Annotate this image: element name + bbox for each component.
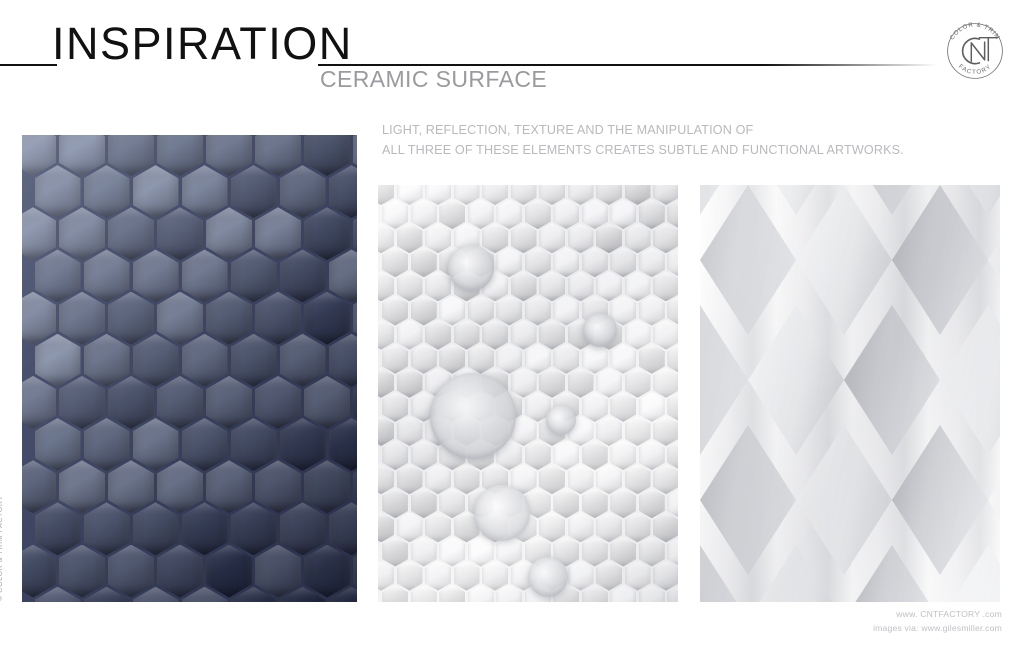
inspiration-slide: INSPIRATION CERAMIC SURFACE COLOR & TRIM… <box>0 0 1024 647</box>
image-panel-white-hexagon-mosaic <box>378 185 678 602</box>
footer-site-url: www. CNTFACTORY .com <box>873 607 1002 621</box>
navy-hexagon-texture <box>22 135 357 602</box>
image-panel-white-pleated-diamond <box>700 185 1000 602</box>
page-subtitle: CERAMIC SURFACE <box>320 66 547 93</box>
pleated-diamond-texture <box>700 185 1000 602</box>
footer-links: www. CNTFACTORY .com images via: www.gil… <box>873 607 1002 635</box>
copyright-vertical: © COLOR & TRIM FACTORY <box>0 495 4 601</box>
cnt-factory-logo: COLOR & TRIM FACTORY <box>938 14 1012 88</box>
white-hexagon-texture <box>378 185 678 602</box>
intro-paragraph: LIGHT, REFLECTION, TEXTURE AND THE MANIP… <box>382 120 982 160</box>
page-title: INSPIRATION <box>52 18 353 70</box>
image-panel-navy-hexagon-tile <box>22 135 357 602</box>
footer-image-credit: images via: www.gilesmiller.com <box>873 621 1002 635</box>
svg-text:FACTORY: FACTORY <box>957 63 993 76</box>
header-rule-left <box>0 64 57 66</box>
logo-arc-bottom-text: FACTORY <box>957 63 993 76</box>
